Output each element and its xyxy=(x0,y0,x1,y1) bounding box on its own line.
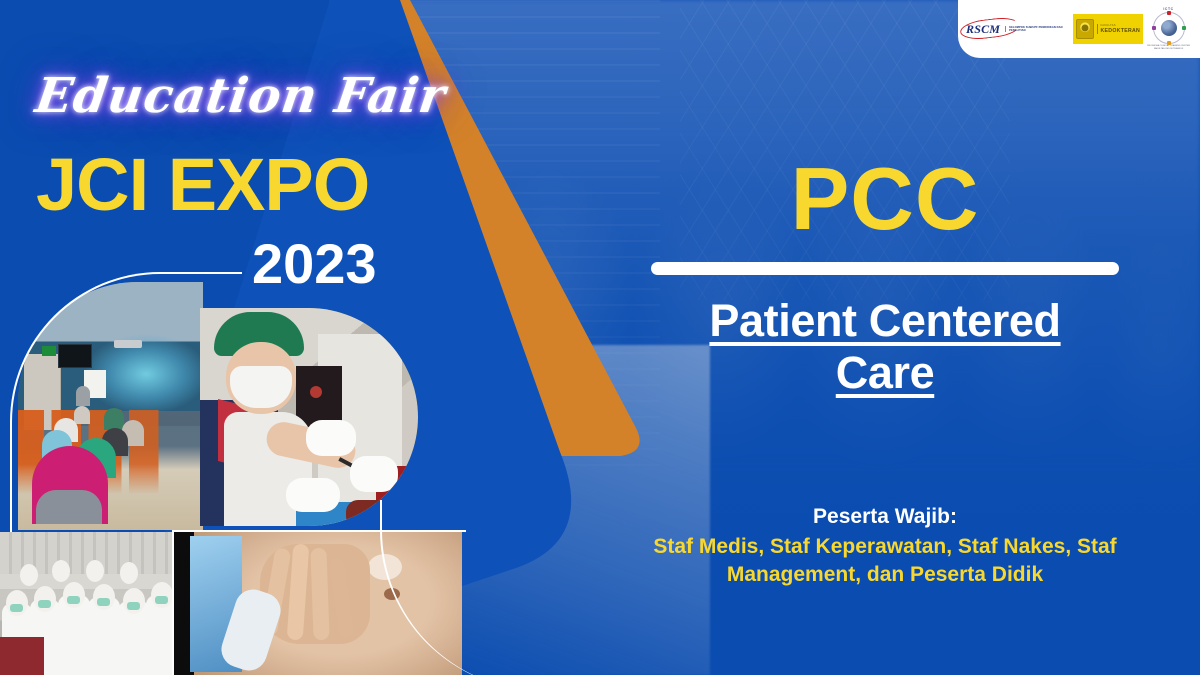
classroom-person xyxy=(76,386,90,406)
education-fair-script-title: Education Fair xyxy=(33,72,449,120)
tissue-specimen xyxy=(346,500,390,526)
nursing-student-head xyxy=(93,584,115,610)
face-mask xyxy=(38,600,51,608)
floral-pattern xyxy=(310,386,322,398)
ictc-caption: INDONESIA CLINICAL TRAINING CENTER FAKUL… xyxy=(1143,45,1194,51)
participants-list: Staf Medis, Staf Keperawatan, Staf Nakes… xyxy=(600,533,1170,590)
face-mask xyxy=(127,602,140,610)
face-mask xyxy=(67,596,80,604)
nursing-photo-content xyxy=(0,532,178,675)
pcc-expansion-line-1: Patient Centered xyxy=(709,295,1060,346)
fkui-text-block: FAKULTAS KEDOKTERAN xyxy=(1097,24,1141,33)
pcc-expansion-line-2: Care xyxy=(836,347,934,398)
fkui-logo: FAKULTAS KEDOKTERAN xyxy=(1073,14,1143,44)
ictc-orbit-icon xyxy=(1153,12,1185,44)
projector xyxy=(114,340,142,348)
nursing-student-head xyxy=(120,562,138,584)
ictc-node-icon xyxy=(1182,26,1186,30)
surgical-photo-content xyxy=(200,308,418,526)
rscm-wordmark: RSCM xyxy=(964,22,1002,36)
nursing-student-head xyxy=(123,588,145,614)
universitas-indonesia-seal-icon xyxy=(1076,19,1093,39)
pcc-expansion: Patient Centered Care xyxy=(640,295,1130,399)
gloved-hand xyxy=(350,456,398,492)
face-mask xyxy=(155,596,168,604)
classroom-training-photo xyxy=(18,282,203,530)
participants-line-1: Staf Medis, Staf Keperawatan, Staf Nakes… xyxy=(653,535,1116,558)
classroom-person xyxy=(36,490,102,524)
red-table-cloth xyxy=(0,637,44,675)
white-divider-bar xyxy=(651,262,1119,275)
nursing-student-head xyxy=(52,560,70,582)
nursing-student-head xyxy=(6,590,28,616)
event-year: 2023 xyxy=(252,236,377,292)
wall-monitor xyxy=(58,344,92,368)
rscm-swoosh-icon xyxy=(959,15,1021,41)
nursing-student-head xyxy=(20,564,38,586)
fkui-line-2: KEDOKTERAN xyxy=(1101,28,1141,34)
ultrasound-gel xyxy=(368,554,402,580)
surgical-skills-photo xyxy=(200,308,418,526)
gloved-hand xyxy=(306,420,356,456)
nursing-student-head xyxy=(151,582,173,608)
face-mask xyxy=(97,598,110,606)
ictc-node-icon xyxy=(1152,26,1156,30)
surgical-mask xyxy=(230,366,292,408)
logo-panel: RSCM KELOMPOK SUB/UPF PENDIDIKAN DAN PEN… xyxy=(958,0,1200,58)
ultrasound-photo-content xyxy=(172,532,462,675)
ictc-core-icon xyxy=(1161,20,1177,36)
participants-label: Peserta Wajib: xyxy=(620,505,1150,529)
ultrasound-demo-photo xyxy=(172,532,462,675)
gloved-hand xyxy=(286,478,340,512)
ictc-node-icon xyxy=(1167,11,1171,15)
pcc-acronym: PCC xyxy=(650,155,1120,243)
nursing-student-head xyxy=(63,582,85,608)
classroom-person xyxy=(74,406,90,424)
classroom-photo-content xyxy=(18,282,203,530)
jci-expo-title: JCI EXPO xyxy=(36,148,369,222)
face-mask xyxy=(10,604,23,612)
exit-sign xyxy=(42,346,56,356)
ictc-logo: ICTC INDONESIA CLINICAL TRAINING CENTER … xyxy=(1143,7,1194,51)
poster-canvas: Education Fair JCI EXPO 2023 PCC Patient… xyxy=(0,0,1200,675)
nursing-students-photo xyxy=(0,532,178,675)
ictc-node-icon xyxy=(1167,41,1171,45)
participants-line-2: Management, dan Peserta Didik xyxy=(727,563,1043,586)
classroom-person xyxy=(104,408,124,430)
nursing-student-head xyxy=(86,560,104,582)
navel xyxy=(384,588,400,600)
finger xyxy=(310,548,329,641)
rscm-logo: RSCM KELOMPOK SUB/UPF PENDIDIKAN DAN PEN… xyxy=(964,22,1073,36)
nursing-student-head xyxy=(34,586,56,612)
